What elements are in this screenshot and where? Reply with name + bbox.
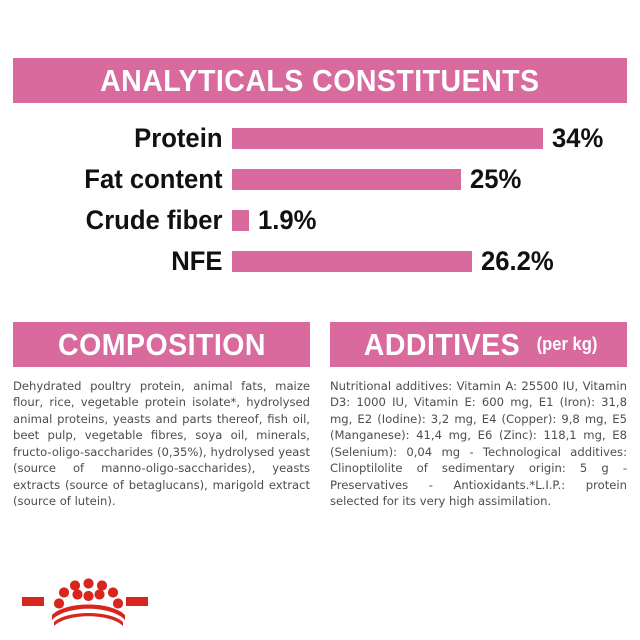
- chart-row-fat-content: Fat content 25%: [0, 159, 640, 200]
- chart-bar-wrap-fat-content: 25%: [232, 164, 640, 195]
- composition-text: Dehydrated poultry protein, animal fats,…: [13, 378, 310, 510]
- additives-header: ADDITIVES (per kg): [330, 322, 627, 367]
- chart-value-nfe: 26.2%: [481, 246, 554, 277]
- chart-bar-protein: [232, 128, 543, 149]
- chart-label-protein: Protein: [12, 123, 232, 154]
- composition-title: COMPOSITION: [58, 329, 266, 360]
- chart-bar-nfe: [232, 251, 472, 272]
- chart-bar-crude-fiber: [232, 210, 249, 231]
- additives-title-suffix: (per kg): [537, 334, 598, 355]
- chart-label-crude-fiber: Crude fiber: [12, 205, 232, 236]
- chart-bar-fat-content: [232, 169, 461, 190]
- chart-value-protein: 34%: [552, 123, 603, 154]
- chart-row-nfe: NFE 26.2%: [0, 241, 640, 282]
- chart-row-protein: Protein 34%: [0, 118, 640, 159]
- analytical-constituents-title: ANALYTICALS CONSTITUENTS: [100, 65, 539, 96]
- chart-bar-wrap-crude-fiber: 1.9%: [232, 205, 640, 236]
- chart-value-crude-fiber: 1.9%: [258, 205, 316, 236]
- additives-title: ADDITIVES: [364, 329, 520, 360]
- analytical-constituents-chart: Protein 34% Fat content 25% Crude fiber …: [0, 118, 640, 298]
- chart-label-nfe: NFE: [12, 246, 232, 277]
- royal-canin-crown-logo: [22, 572, 148, 634]
- chart-value-fat-content: 25%: [470, 164, 521, 195]
- chart-bar-wrap-nfe: 26.2%: [232, 246, 640, 277]
- composition-header: COMPOSITION: [13, 322, 310, 367]
- crown-logo-svg: [22, 572, 148, 634]
- analytical-constituents-header: ANALYTICALS CONSTITUENTS: [13, 58, 627, 103]
- chart-row-crude-fiber: Crude fiber 1.9%: [0, 200, 640, 241]
- product-info-panel: ANALYTICALS CONSTITUENTS Protein 34% Fat…: [0, 0, 640, 640]
- chart-bar-wrap-protein: 34%: [232, 123, 640, 154]
- chart-label-fat-content: Fat content: [12, 164, 232, 195]
- additives-text: Nutritional additives: Vitamin A: 25500 …: [330, 378, 627, 510]
